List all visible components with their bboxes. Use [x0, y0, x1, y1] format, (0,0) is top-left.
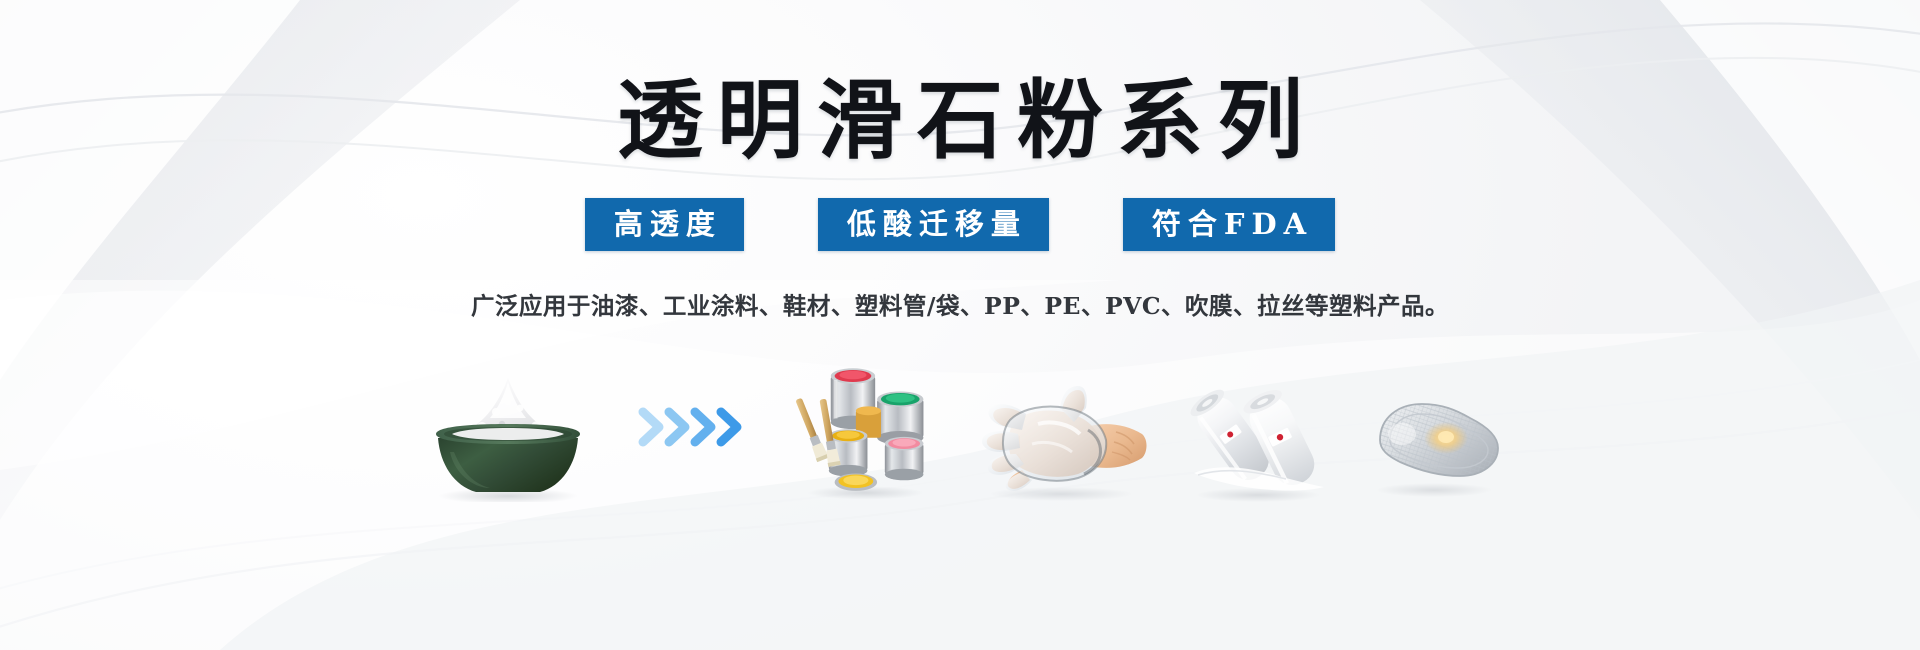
- strip-gap: [1156, 352, 1178, 502]
- paint-cans-image: [796, 352, 936, 502]
- talc-powder-bowl-image: [410, 352, 606, 502]
- feature-badge-low-acid-migration: 低酸迁移量: [818, 198, 1049, 251]
- chevron-arrows-icon: [632, 352, 762, 502]
- application-description: 广泛应用于油漆、工业涂料、鞋材、塑料管/袋、PP、PE、PVC、吹膜、拉丝等塑料…: [471, 287, 1449, 321]
- strip-gap: [606, 352, 632, 502]
- product-banner: 透明滑石粉系列 高透度 低酸迁移量 符合FDA 广泛应用于油漆、工业涂料、鞋材、…: [0, 0, 1920, 650]
- gloved-hands-image: [966, 352, 1156, 502]
- strip-gap: [936, 352, 966, 502]
- page-title: 透明滑石粉系列: [603, 78, 1317, 164]
- feature-badge-fda-compliant: 符合FDA: [1123, 198, 1335, 251]
- strip-gap: [762, 352, 796, 502]
- feature-badge-list: 高透度 低酸迁移量 符合FDA: [585, 198, 1335, 251]
- feature-badge-high-transparency: 高透度: [585, 198, 744, 251]
- strip-gap: [1338, 352, 1360, 502]
- shoe-sole-image: [1360, 352, 1510, 502]
- plastic-film-rolls-image: [1178, 352, 1338, 502]
- product-image-strip: [0, 352, 1920, 502]
